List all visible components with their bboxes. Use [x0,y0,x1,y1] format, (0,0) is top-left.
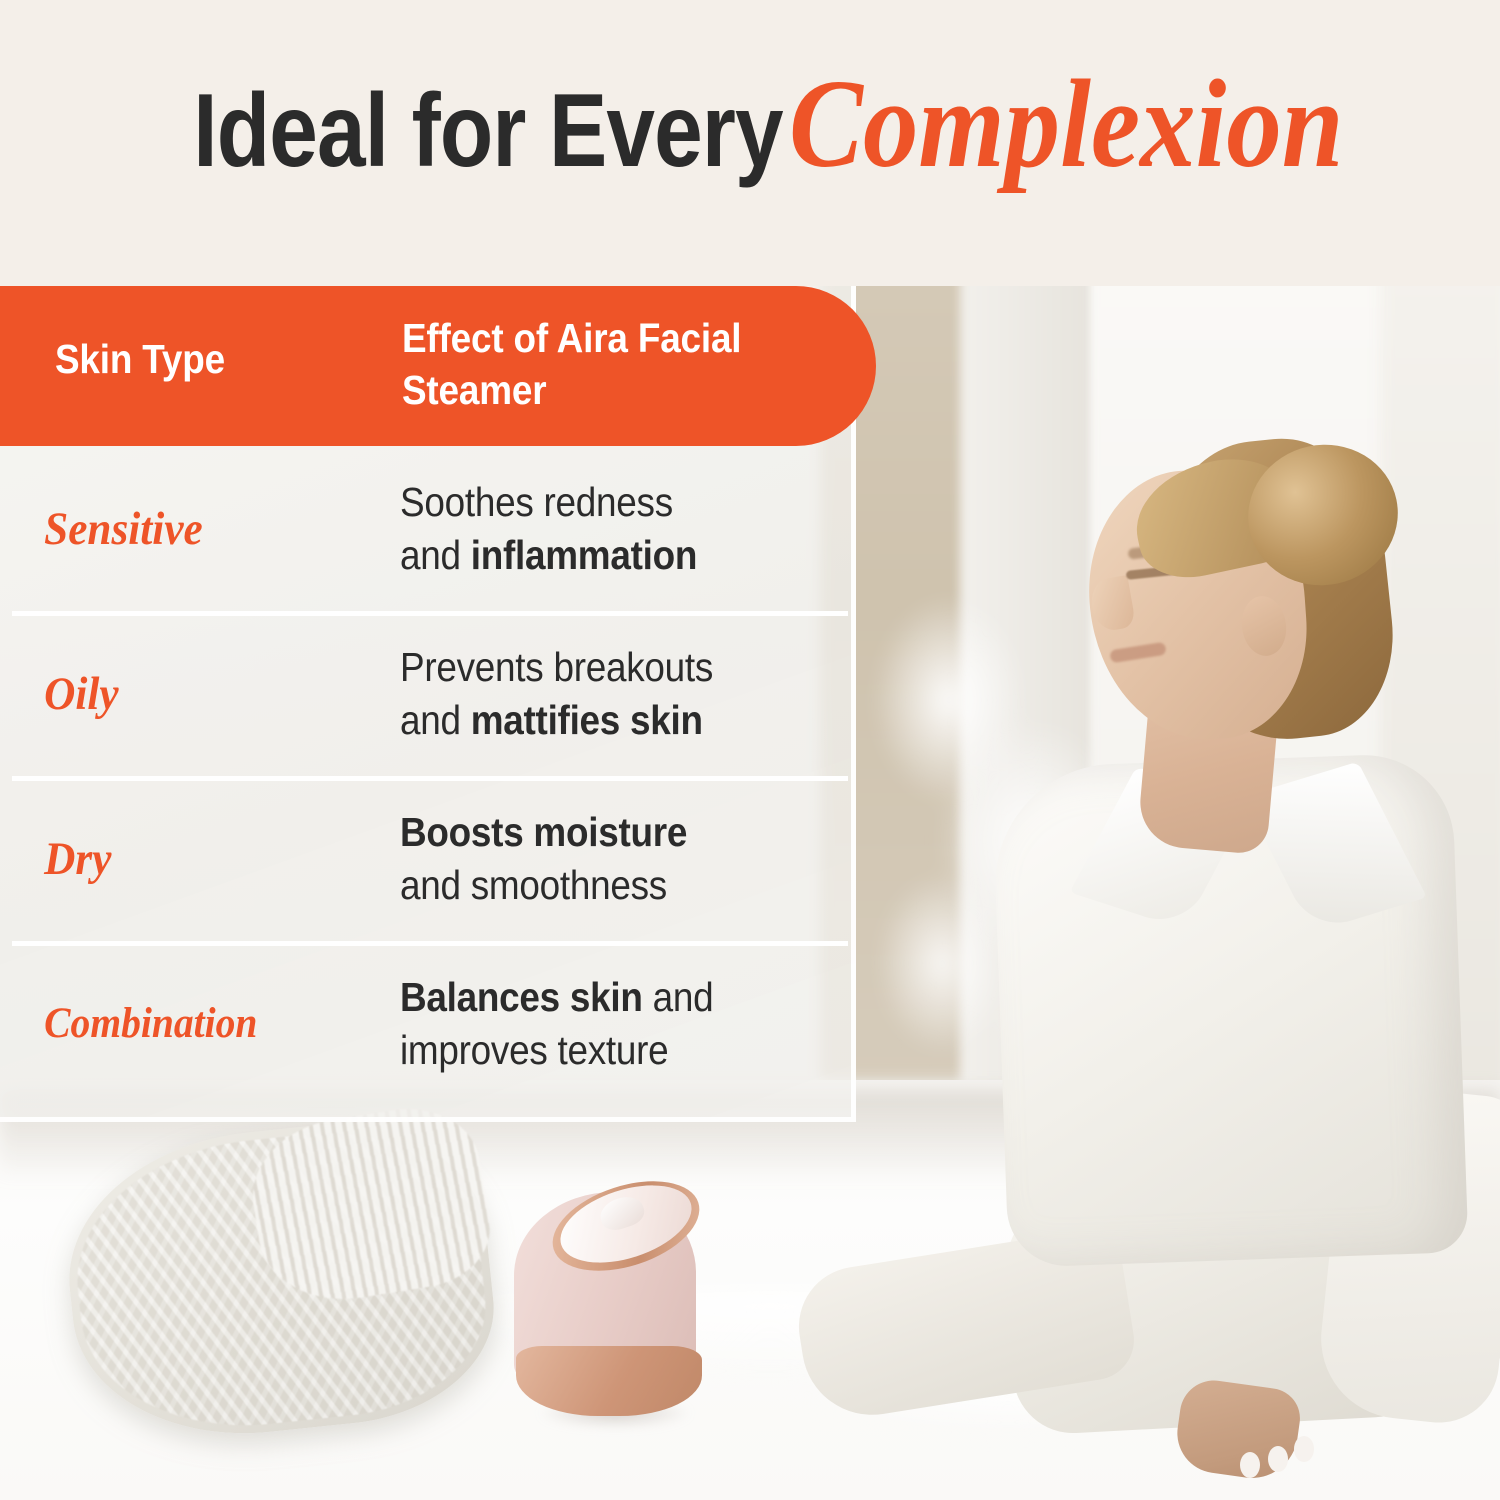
effect-text: Prevents breakouts and mattifies skin [400,641,810,746]
facial-steamer-product [500,1150,720,1420]
table-row: Oily Prevents breakouts and mattifies sk… [0,611,856,776]
table-row: Combination Balances skin and improves t… [0,941,856,1106]
page-title: Ideal for EveryComplexion [0,62,1500,188]
effect-line-1: Boosts moisture [400,806,792,858]
skin-type-label: Sensitive [0,502,368,556]
row-divider [12,611,848,616]
row-divider [12,776,848,781]
skin-type-label: Dry [0,832,368,886]
headline-plain: Ideal for Every [193,79,782,183]
effect-text: Boosts moisture and smoothness [400,806,810,911]
fingernail [1268,1446,1288,1472]
skin-type-table: Skin Type Effect of Aira Facial Steamer … [0,286,856,1122]
effect-line-1: Prevents breakouts [400,641,792,693]
row-divider [12,941,848,946]
table-row: Dry Boosts moisture and smoothness [0,776,856,941]
effect-line-1: Soothes redness [400,476,792,528]
headline-band: Ideal for EveryComplexion [0,0,1500,286]
infographic-root: Ideal for EveryComplexion Skin Type Effe… [0,0,1500,1500]
skin-type-label: Combination [0,999,368,1048]
table-header-bar: Skin Type Effect of Aira Facial Steamer [0,286,876,446]
column-header-skin-type: Skin Type [55,336,225,383]
fingernail [1294,1436,1314,1462]
effect-line-2: and mattifies skin [400,694,792,746]
effect-line-2: and smoothness [400,859,792,911]
steamer-base [516,1346,702,1416]
table-row: Sensitive Soothes redness and inflammati… [0,446,856,611]
headline-accent: Complexion [789,62,1343,188]
column-header-effect-line1: Effect of Aira [402,315,628,361]
effect-text: Soothes redness and inflammation [400,476,810,581]
effect-line-1: Balances skin and [400,971,792,1023]
fingernail [1240,1452,1260,1478]
effect-line-2: and inflammation [400,529,792,581]
effect-text: Balances skin and improves texture [400,971,810,1076]
skin-type-label: Oily [0,667,368,721]
table-body: Sensitive Soothes redness and inflammati… [0,446,856,1106]
column-header-effect: Effect of Aira Facial Steamer [402,313,829,416]
effect-line-2: improves texture [400,1024,792,1076]
